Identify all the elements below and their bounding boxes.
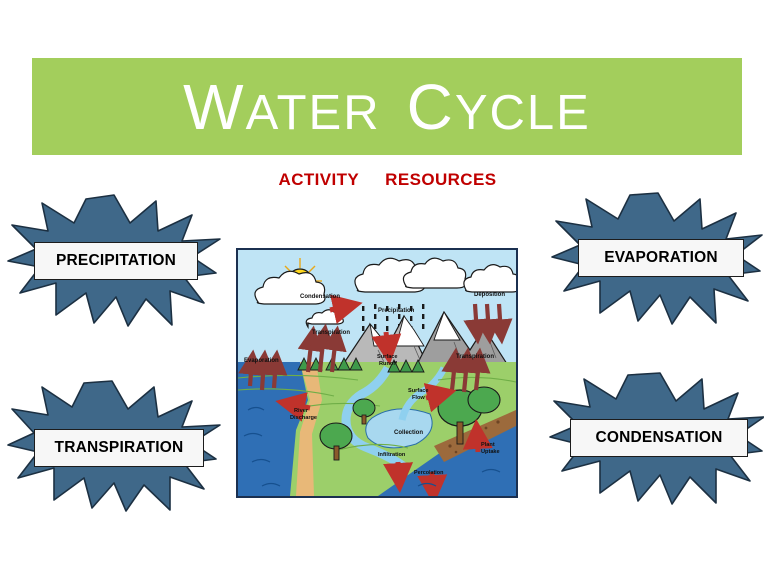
starburst-label-plate: PRECIPITATION (34, 242, 198, 280)
diagram-label-deposition: Deposition (474, 292, 505, 298)
starburst-label-plate: TRANSPIRATION (34, 429, 204, 467)
starburst-evaporation[interactable]: EVAPORATION (548, 191, 764, 326)
arrow-plant-uptake (477, 434, 478, 452)
subtitle-activity: ACTIVITY (279, 170, 360, 189)
subtitle-resources: RESOURCES (385, 170, 496, 189)
water-cycle-diagram[interactable]: Condensation Transpiration Evaporation P… (236, 248, 518, 498)
starburst-label-transpiration: TRANSPIRATION (55, 439, 184, 457)
diagram-label-collection: Collection (394, 430, 423, 436)
diagram-label-infiltration: Infiltration (378, 452, 406, 458)
diagram-label-surface-flow-2: Flow (412, 395, 425, 401)
diagram-label-transpiration-left: Transpiration (312, 330, 350, 336)
starburst-transpiration[interactable]: TRANSPIRATION (6, 377, 222, 512)
title-rest-ycle: YCLE (455, 86, 591, 140)
starburst-label-condensation: CONDENSATION (596, 429, 723, 447)
title-initial-w: W (183, 71, 245, 143)
starburst-precipitation[interactable]: PRECIPITATION (6, 193, 222, 328)
starburst-label-evaporation: EVAPORATION (604, 249, 718, 267)
diagram-label-percolation: Percolation (414, 470, 443, 476)
diagram-label-river-discharge-1: River (294, 408, 309, 414)
arrow-surface-runoff (386, 332, 388, 350)
diagram-label-surface-flow-1: Surface (408, 388, 429, 394)
arrow-infiltration (398, 462, 399, 478)
tree-round-4 (468, 387, 500, 413)
diagram-label-surface-runoff-2: Runoff (379, 361, 397, 367)
diagram-label-precipitation: Precipitation (378, 308, 415, 314)
diagram-label-surface-runoff-1: Surface (377, 354, 398, 360)
slide-canvas: WATERCYCLE ACTIVITYRESOURCES PRECIPITATI… (0, 0, 775, 581)
diagram-label-evaporation: Evaporation (244, 358, 279, 364)
page-title: WATERCYCLE (183, 75, 591, 139)
starburst-label-plate: CONDENSATION (570, 419, 748, 457)
title-banner: WATERCYCLE (32, 58, 742, 155)
diagram-label-plant-uptake-2: Uptake (481, 449, 500, 455)
subtitle-row: ACTIVITYRESOURCES (0, 170, 775, 190)
title-initial-c: C (407, 71, 455, 143)
diagram-label-transpiration-right: Transpiration (456, 354, 494, 360)
diagram-label-river-discharge-2: Discharge (290, 415, 317, 421)
water-cycle-artwork: Condensation Transpiration Evaporation P… (238, 250, 516, 496)
starburst-condensation[interactable]: CONDENSATION (548, 371, 764, 506)
diagram-label-condensation: Condensation (300, 294, 340, 300)
diagram-label-plant-uptake-1: Plant (481, 442, 495, 448)
starburst-label-plate: EVAPORATION (578, 239, 744, 277)
title-rest-ater: ATER (246, 86, 381, 140)
starburst-label-precipitation: PRECIPITATION (56, 252, 176, 270)
